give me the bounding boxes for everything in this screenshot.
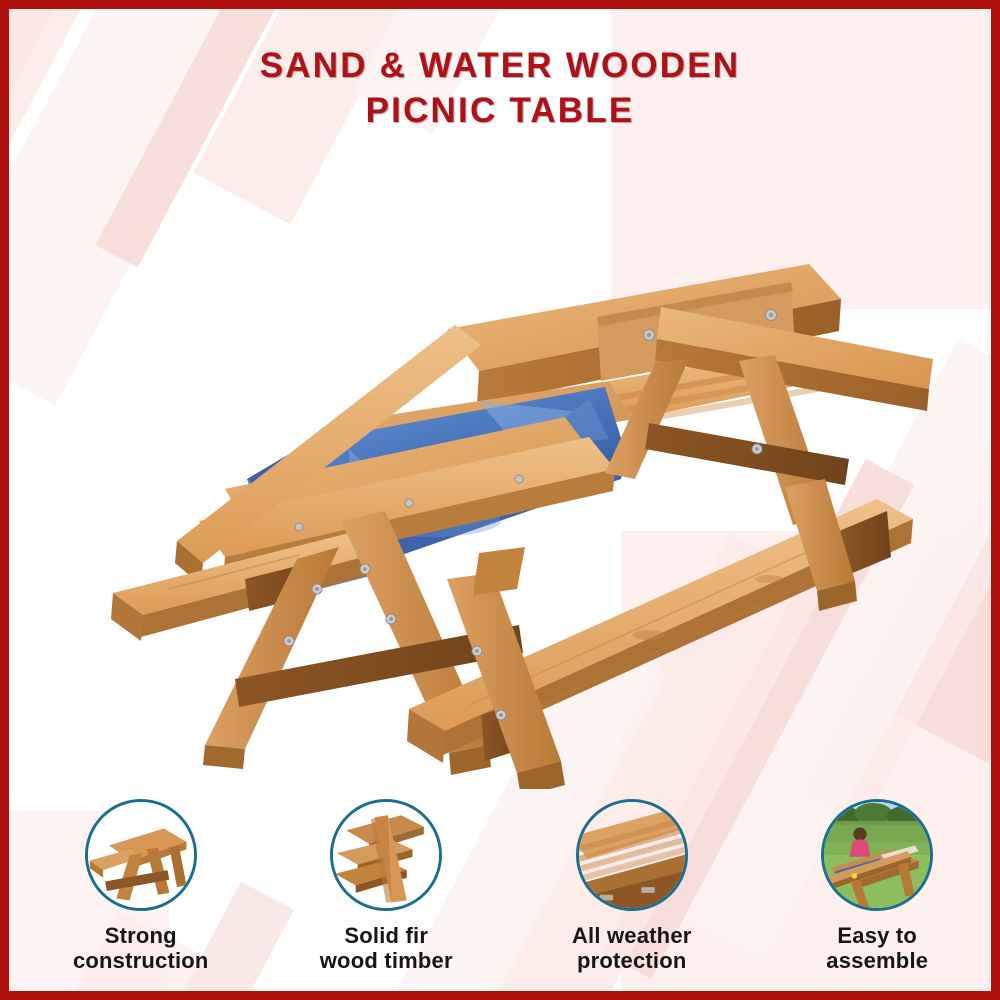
title-line-1: SAND & WATER WOODEN [9,43,991,88]
child-playing-in-garden-thumbnail [821,799,933,911]
feature-label-1-line2: construction [28,948,253,973]
feature-label-3-line1: All weather [519,923,744,948]
feature-label-2-line2: wood timber [274,948,499,973]
feature-item-solid-fir-wood-timber: Solid fir wood timber [274,799,499,973]
feature-item-strong-construction: Strong construction [28,799,253,973]
feature-label-3-line2: protection [519,948,744,973]
page-title: SAND & WATER WOODEN PICNIC TABLE [9,43,991,133]
feature-label-1-line1: Strong [28,923,253,948]
product-poster: SAND & WATER WOODEN PICNIC TABLE [0,0,1000,1000]
feature-item-all-weather-protection: All weather protection [519,799,744,973]
feature-label-4-line1: Easy to [765,923,990,948]
hero-product-image [49,149,979,789]
feature-label-2-line1: Solid fir [274,923,499,948]
closed-tabletop-thumbnail [576,799,688,911]
feature-item-easy-to-assemble: Easy to assemble [765,799,990,973]
picnic-table-frame-thumbnail [85,799,197,911]
feature-label-4-line2: assemble [765,948,990,973]
timber-planks-thumbnail [330,799,442,911]
feature-list: Strong construction Solid fir wood [18,799,1000,973]
title-line-2: PICNIC TABLE [9,88,991,133]
